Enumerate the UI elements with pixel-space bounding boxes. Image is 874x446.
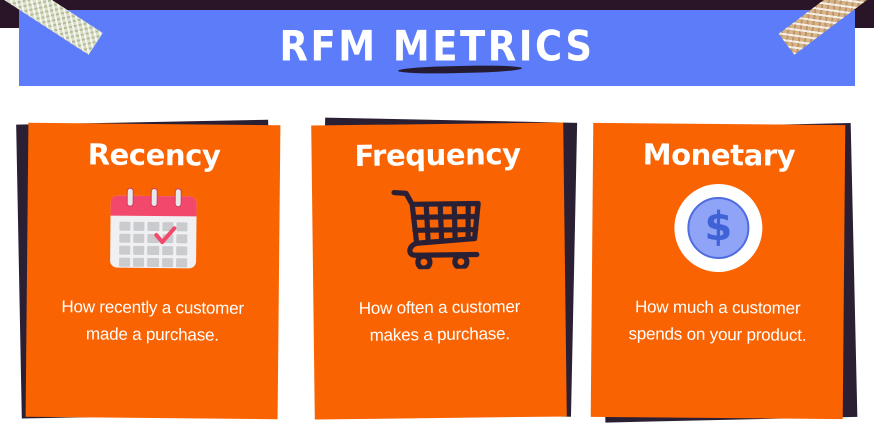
checkmark-icon [154, 226, 176, 246]
card-face: Frequency [311, 122, 567, 419]
metric-card-monetary[interactable]: Monetary $ How much a customer spends on… [592, 124, 844, 418]
card-face: Recency [26, 123, 281, 419]
card-title: Frequency [327, 137, 547, 174]
infographic-slide: RFM METRICS Recency [0, 0, 874, 446]
card-title: Recency [44, 137, 264, 173]
card-icon-slot [43, 179, 264, 277]
metric-card-recency[interactable]: Recency [27, 124, 279, 418]
metric-card-list: Recency [0, 0, 874, 446]
calendar-ring [151, 188, 158, 207]
card-description: How much a customer spends on your produ… [607, 293, 827, 349]
dollar-coin-icon: $ [674, 184, 763, 273]
calendar-icon [110, 188, 197, 269]
card-description: How often a customer makes a purchase. [329, 293, 550, 350]
card-title: Monetary [609, 137, 829, 173]
calendar-ring [175, 188, 182, 207]
card-icon-slot: $ [608, 179, 829, 277]
shopping-cart-icon [390, 186, 487, 269]
dollar-sign-icon: $ [687, 197, 750, 260]
card-icon-slot [328, 179, 549, 278]
calendar-ring [127, 188, 134, 207]
card-face: Monetary $ How much a customer spends on… [591, 123, 846, 419]
metric-card-frequency[interactable]: Frequency [313, 124, 565, 418]
card-description: How recently a customer made a purchase. [42, 293, 263, 349]
